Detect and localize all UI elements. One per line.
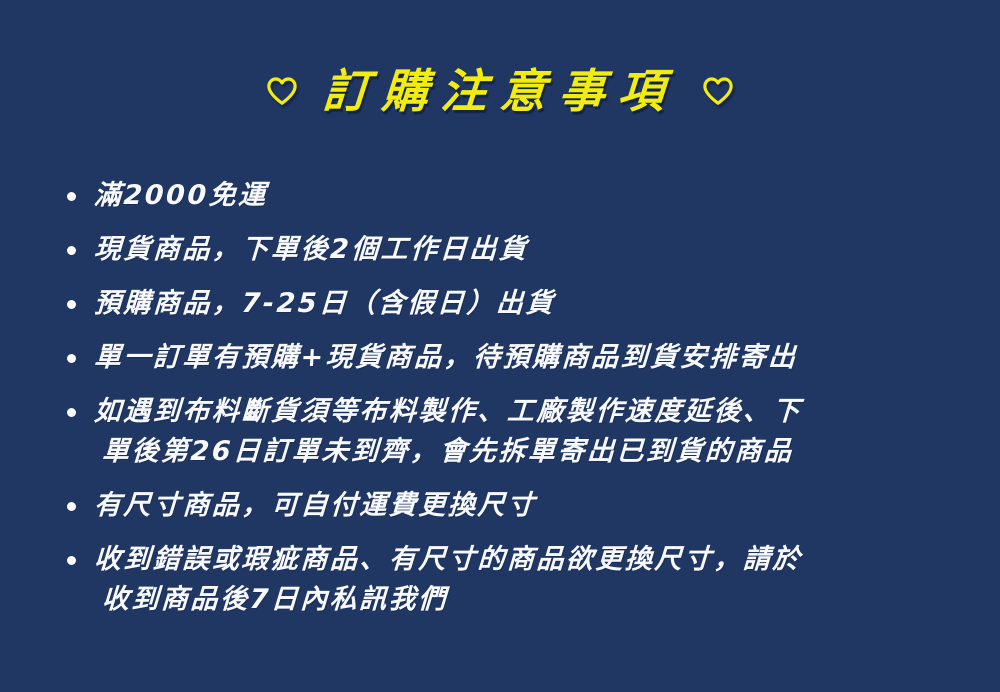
- page-title-text: 訂購注意事項: [321, 68, 678, 114]
- heart-outline-icon-left: [267, 76, 297, 106]
- list-item-line: 預購商品，7-25日（含假日）出貨: [93, 284, 963, 324]
- heart-outline-icon-right: [703, 76, 733, 106]
- page-title: 訂購注意事項: [0, 68, 1000, 114]
- list-item-line: 如遇到布料斷貨須等布料製作、工廠製作速度延後、下: [93, 392, 963, 432]
- list-item-line: 現貨商品，下單後2個工作日出貨: [93, 230, 963, 270]
- list-item-line: 滿2000免運: [93, 176, 963, 216]
- bullet-icon: [67, 354, 76, 363]
- notice-list: 滿2000免運 現貨商品，下單後2個工作日出貨 預購商品，7-25日（含假日）出…: [62, 176, 962, 620]
- bullet-icon: [67, 408, 76, 417]
- bullet-icon: [67, 300, 76, 309]
- list-item: 現貨商品，下單後2個工作日出貨: [62, 230, 962, 270]
- list-item-line: 收到錯誤或瑕疵商品、有尺寸的商品欲更換尺寸，請於: [93, 540, 963, 580]
- notice-poster: 訂購注意事項 滿2000免運 現貨商品，下單後2個工作日出貨 預購商品，7-25…: [0, 0, 1000, 692]
- list-item: 滿2000免運: [62, 176, 962, 216]
- list-item: 有尺寸商品，可自付運費更換尺寸: [62, 486, 962, 526]
- bullet-icon: [67, 502, 76, 511]
- bullet-icon: [67, 556, 76, 565]
- list-item-line: 有尺寸商品，可自付運費更換尺寸: [93, 486, 963, 526]
- bullet-icon: [67, 246, 76, 255]
- list-item: 單一訂單有預購+現貨商品，待預購商品到貨安排寄出: [62, 338, 962, 378]
- list-item-line: 收到商品後7日內私訊我們: [101, 580, 963, 620]
- list-item: 如遇到布料斷貨須等布料製作、工廠製作速度延後、下 單後第26日訂單未到齊，會先拆…: [62, 392, 962, 472]
- list-item-line: 單後第26日訂單未到齊，會先拆單寄出已到貨的商品: [101, 432, 963, 472]
- list-item: 收到錯誤或瑕疵商品、有尺寸的商品欲更換尺寸，請於 收到商品後7日內私訊我們: [62, 540, 962, 620]
- list-item: 預購商品，7-25日（含假日）出貨: [62, 284, 962, 324]
- list-item-line: 單一訂單有預購+現貨商品，待預購商品到貨安排寄出: [93, 338, 963, 378]
- bullet-icon: [67, 192, 76, 201]
